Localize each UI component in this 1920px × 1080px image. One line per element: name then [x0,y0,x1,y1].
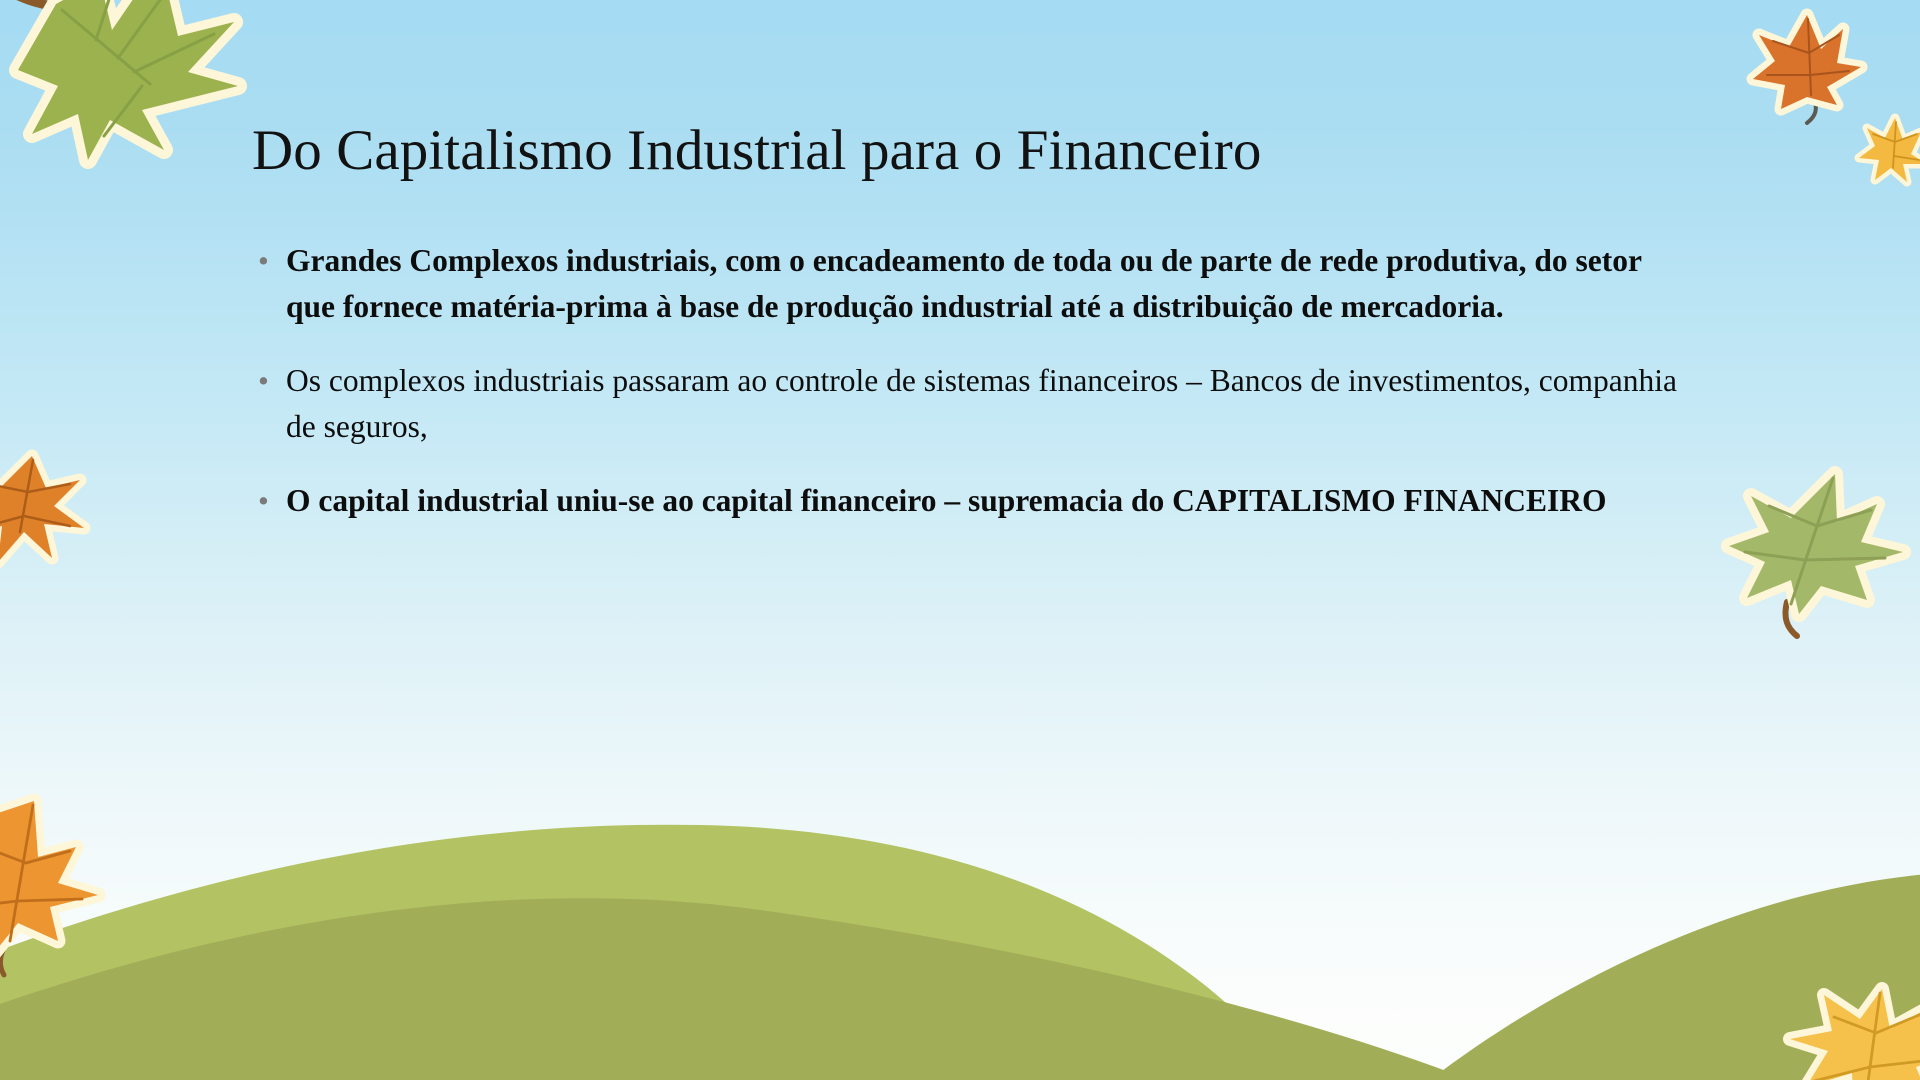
bullet-item-2: • Os complexos industriais passaram ao c… [252,358,1682,450]
slide-body-bullet-list: • Grandes Complexos industriais, com o e… [252,238,1682,524]
leaf-orange-bottom-left-icon [0,795,102,975]
leaf-orange-mid-left-icon [0,440,86,565]
leaf-yellow-bottom-right-icon [1790,985,1920,1080]
leaf-green-top-left-icon [0,0,242,159]
bullet-item-3: • O capital industrial uniu-se ao capita… [252,478,1682,524]
bullet-text-2: Os complexos industriais passaram ao con… [286,358,1682,450]
bullet-marker-icon: • [252,358,286,404]
bullet-text-1: Grandes Complexos industriais, com o enc… [286,238,1682,330]
bullet-marker-icon: • [252,478,286,524]
slide-title: Do Capitalismo Industrial para o Finance… [252,120,1672,183]
bullet-item-1: • Grandes Complexos industriais, com o e… [252,238,1682,330]
background-hills [0,750,1920,1080]
leaf-green-mid-right-icon [1725,460,1910,640]
leaf-yellow-top-right-icon [1855,110,1920,188]
bullet-marker-icon: • [252,238,286,284]
bullet-text-3: O capital industrial uniu-se ao capital … [286,478,1682,524]
presentation-slide: Do Capitalismo Industrial para o Finance… [0,0,1920,1080]
leaf-orange-top-right-icon [1745,5,1865,125]
